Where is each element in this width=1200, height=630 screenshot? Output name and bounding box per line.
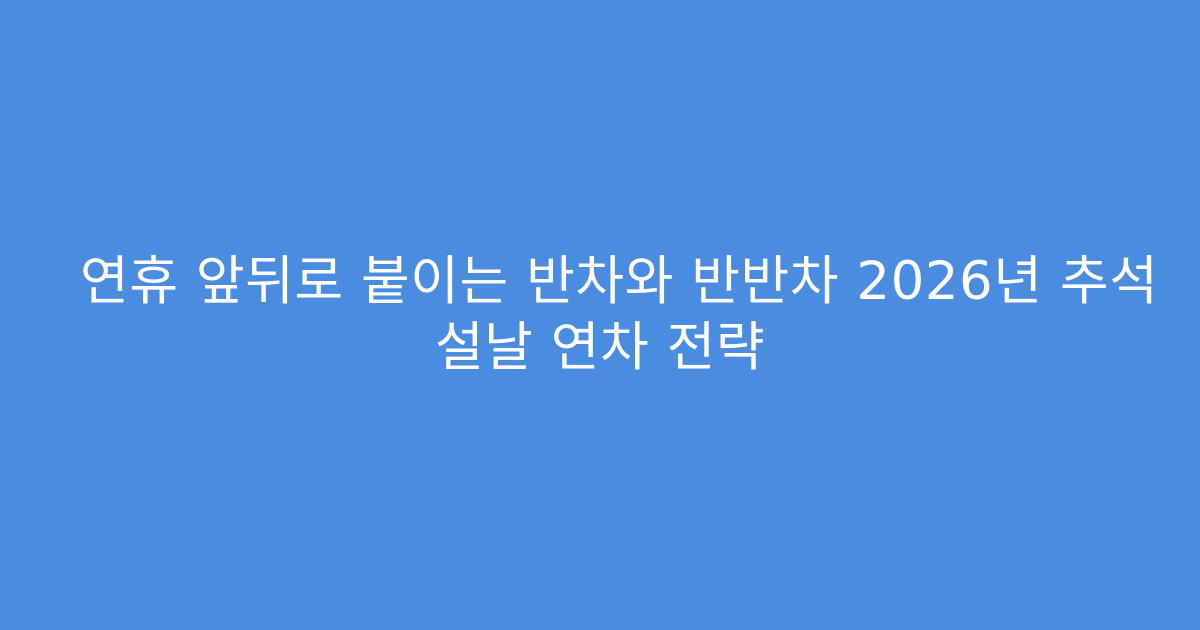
- title-line-2: 설날 연차 전략: [80, 315, 1120, 381]
- page-title: 연휴 앞뒤로 붙이는 반차와 반반차 2026년 추석 설날 연차 전략: [80, 249, 1120, 381]
- title-card: 연휴 앞뒤로 붙이는 반차와 반반차 2026년 추석 설날 연차 전략: [0, 0, 1200, 630]
- title-line-1: 연휴 앞뒤로 붙이는 반차와 반반차 2026년 추석: [80, 249, 1120, 315]
